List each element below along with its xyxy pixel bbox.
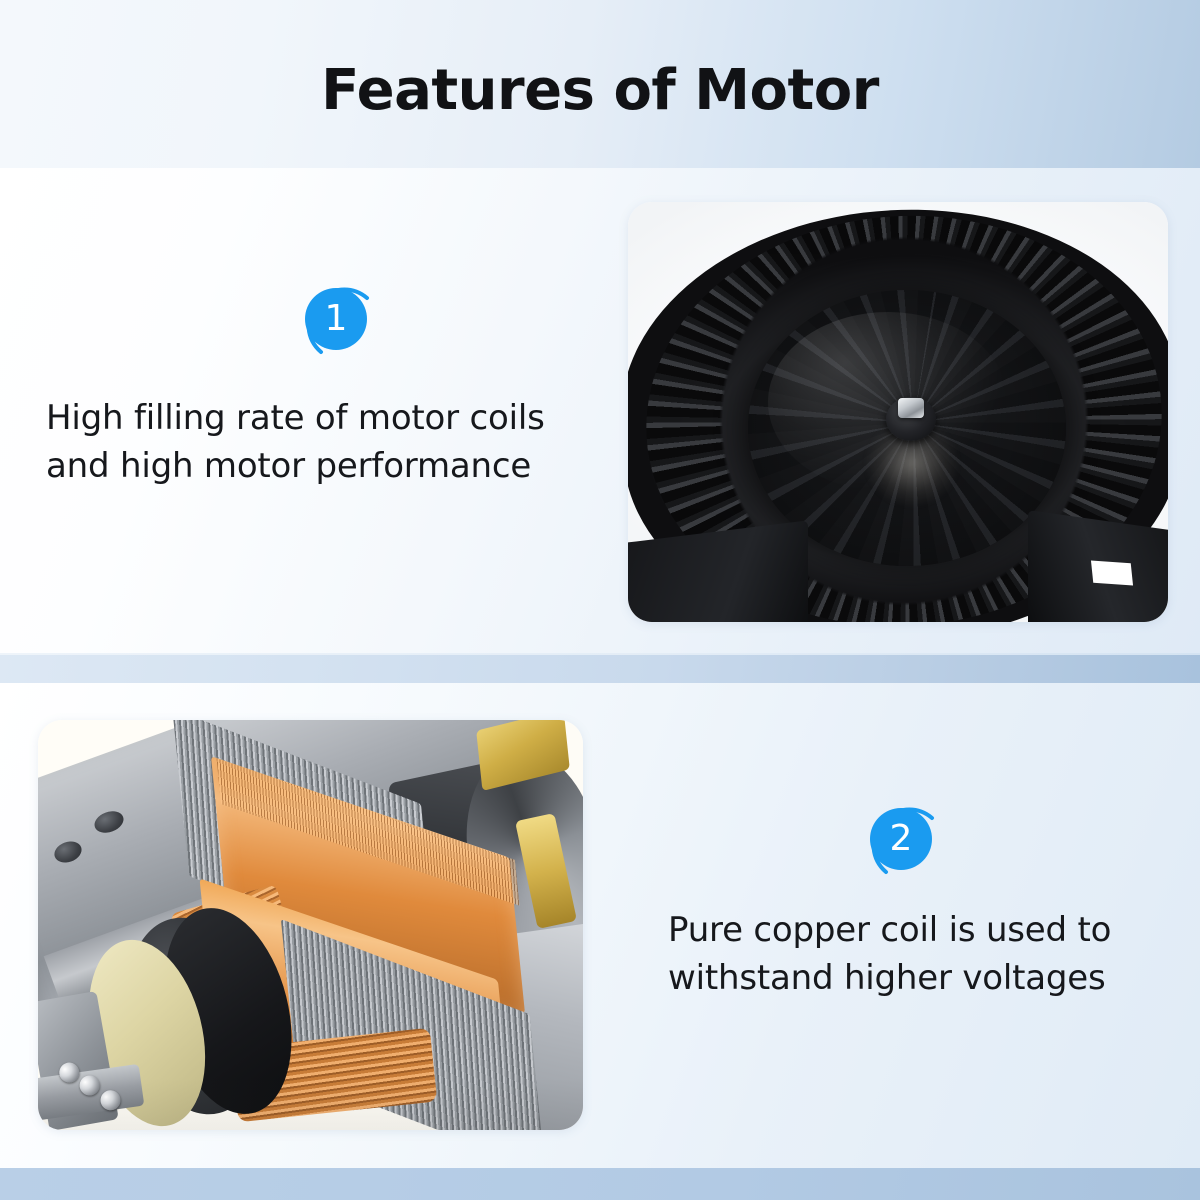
blower-wheel-image: [628, 202, 1168, 622]
features-of-motor-page: Features of Motor 1 High filling rate of…: [0, 0, 1200, 1200]
blower-wheel-card: [628, 202, 1168, 622]
motor-cutaway-image: [38, 720, 583, 1130]
header-band: Features of Motor: [0, 0, 1200, 168]
feature-one-text: High filling rate of motor coils and hig…: [46, 394, 586, 490]
footer-band: [0, 1168, 1200, 1200]
badge-one: 1: [291, 274, 377, 360]
blower-wheel-photo: [628, 202, 1168, 622]
badge-circle-icon: [291, 274, 377, 360]
blower-center-bolt: [898, 398, 924, 418]
motor-bottom-shadow: [38, 1078, 583, 1130]
page-title: Features of Motor: [0, 58, 1200, 123]
section-divider-band: [0, 655, 1200, 683]
motor-cutaway-photo: [38, 720, 583, 1130]
badge-two: 2: [856, 794, 942, 880]
feature-two-text: Pure copper coil is used to withstand hi…: [668, 906, 1168, 1002]
badge-circle-icon: [856, 794, 942, 880]
blower-white-tab: [1091, 560, 1133, 585]
motor-cutaway-card: [38, 720, 583, 1130]
